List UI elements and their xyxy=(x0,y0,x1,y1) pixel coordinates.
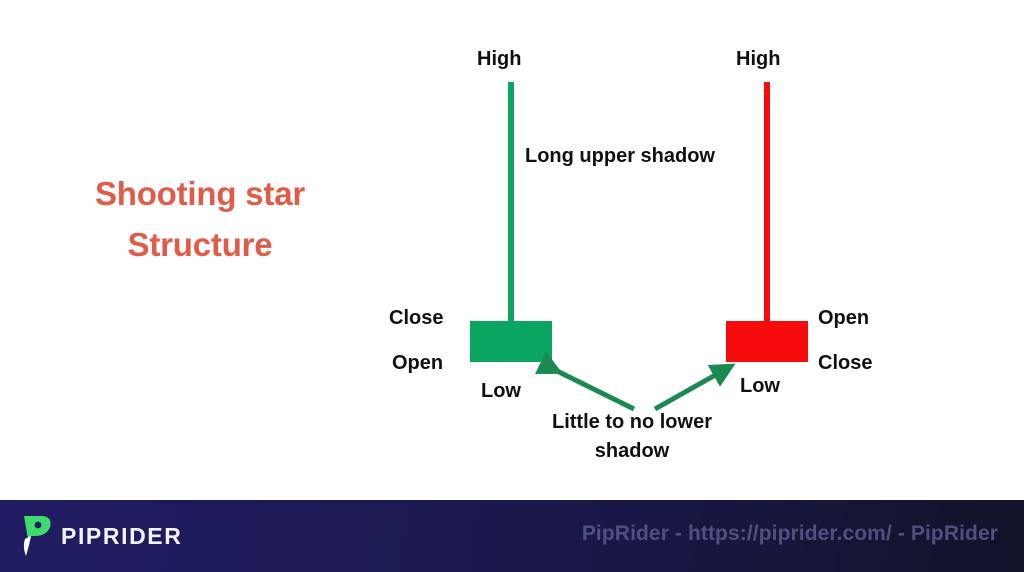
bullish-open-label: Open xyxy=(392,351,443,376)
bullish-candle-body xyxy=(470,321,552,362)
bullish-candle-upper-wick xyxy=(508,82,514,324)
footer-credit-text: PipRider - https://piprider.com/ - PipRi… xyxy=(582,522,998,546)
page-title: Shooting star Structure xyxy=(40,168,360,270)
bearish-low-label: Low xyxy=(740,374,780,399)
footer-brand-name: PIPRIDER xyxy=(61,523,182,550)
bullish-low-label: Low xyxy=(481,379,521,404)
piprider-logo-icon xyxy=(18,514,52,558)
slide-canvas: Shooting star Structure High Close Open … xyxy=(0,0,1024,572)
lower-shadow-arrow-right xyxy=(655,369,726,409)
page-title-line-1: Shooting star xyxy=(40,168,360,219)
footer-logo[interactable]: PIPRIDER xyxy=(18,514,182,558)
bullish-high-label: High xyxy=(477,47,521,72)
bullish-close-label: Close xyxy=(389,306,443,331)
page-title-line-2: Structure xyxy=(40,219,360,270)
lower-shadow-arrow-left xyxy=(553,369,634,409)
bearish-candle-upper-wick xyxy=(764,82,770,324)
footer-bar: PIPRIDER PipRider - https://piprider.com… xyxy=(0,500,1024,572)
bearish-candle-body xyxy=(726,321,808,362)
bearish-open-label: Open xyxy=(818,306,869,331)
upper-shadow-annotation: Long upper shadow xyxy=(525,144,715,169)
bearish-high-label: High xyxy=(736,47,780,72)
bearish-close-label: Close xyxy=(818,351,872,376)
lower-shadow-annotation: Little to no lower shadow xyxy=(514,408,750,466)
